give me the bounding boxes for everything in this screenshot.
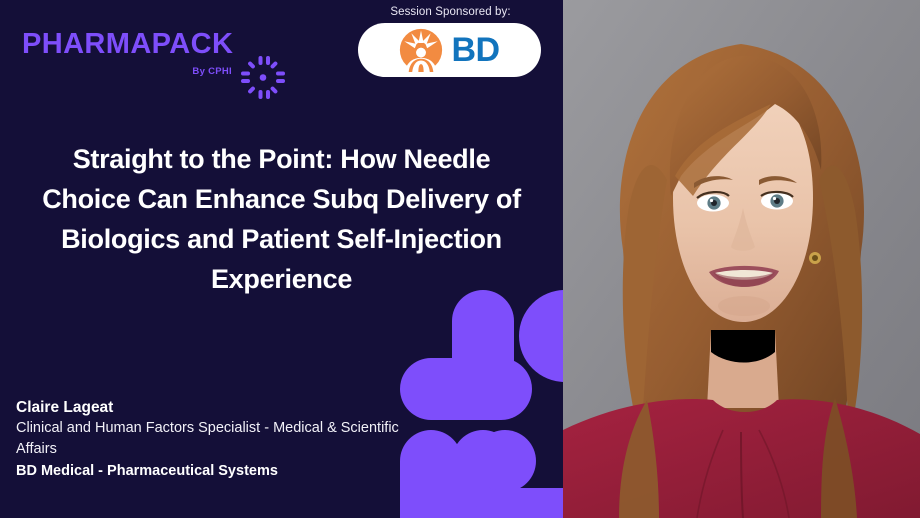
capsule-shape bbox=[474, 488, 563, 518]
speaker-role: Clinical and Human Factors Specialist - … bbox=[16, 418, 416, 460]
capsule-shape bbox=[452, 290, 514, 420]
logo-subtitle: By CPHI bbox=[192, 66, 232, 77]
capsule-shape bbox=[400, 358, 532, 420]
sponsor-block: Session Sponsored by: bbox=[358, 6, 543, 77]
speaker-headshot bbox=[563, 0, 920, 518]
sponsor-label: Session Sponsored by: bbox=[358, 6, 543, 18]
session-title: Straight to the Point: How Needle Choice… bbox=[30, 140, 533, 300]
speaker-name: Claire Lageat bbox=[16, 397, 416, 418]
pharmapack-logo: PHARMAPACK By CPHI bbox=[22, 30, 272, 85]
bd-logo: BD bbox=[358, 23, 541, 77]
capsule-shape bbox=[474, 430, 536, 492]
speaker-info: Claire Lageat Clinical and Human Factors… bbox=[16, 397, 416, 482]
left-content-panel: PHARMAPACK By CPHI bbox=[0, 0, 563, 518]
capsule-shape bbox=[519, 290, 563, 382]
capsule-shape bbox=[452, 430, 514, 518]
presentation-slide: PHARMAPACK By CPHI bbox=[0, 0, 920, 518]
starburst-icon bbox=[240, 55, 286, 101]
logo-wordmark: PHARMAPACK bbox=[22, 30, 272, 59]
bd-wordmark: BD bbox=[451, 33, 499, 67]
bd-sunburst-figure-icon bbox=[399, 28, 443, 72]
speaker-organization: BD Medical - Pharmaceutical Systems bbox=[16, 461, 416, 482]
